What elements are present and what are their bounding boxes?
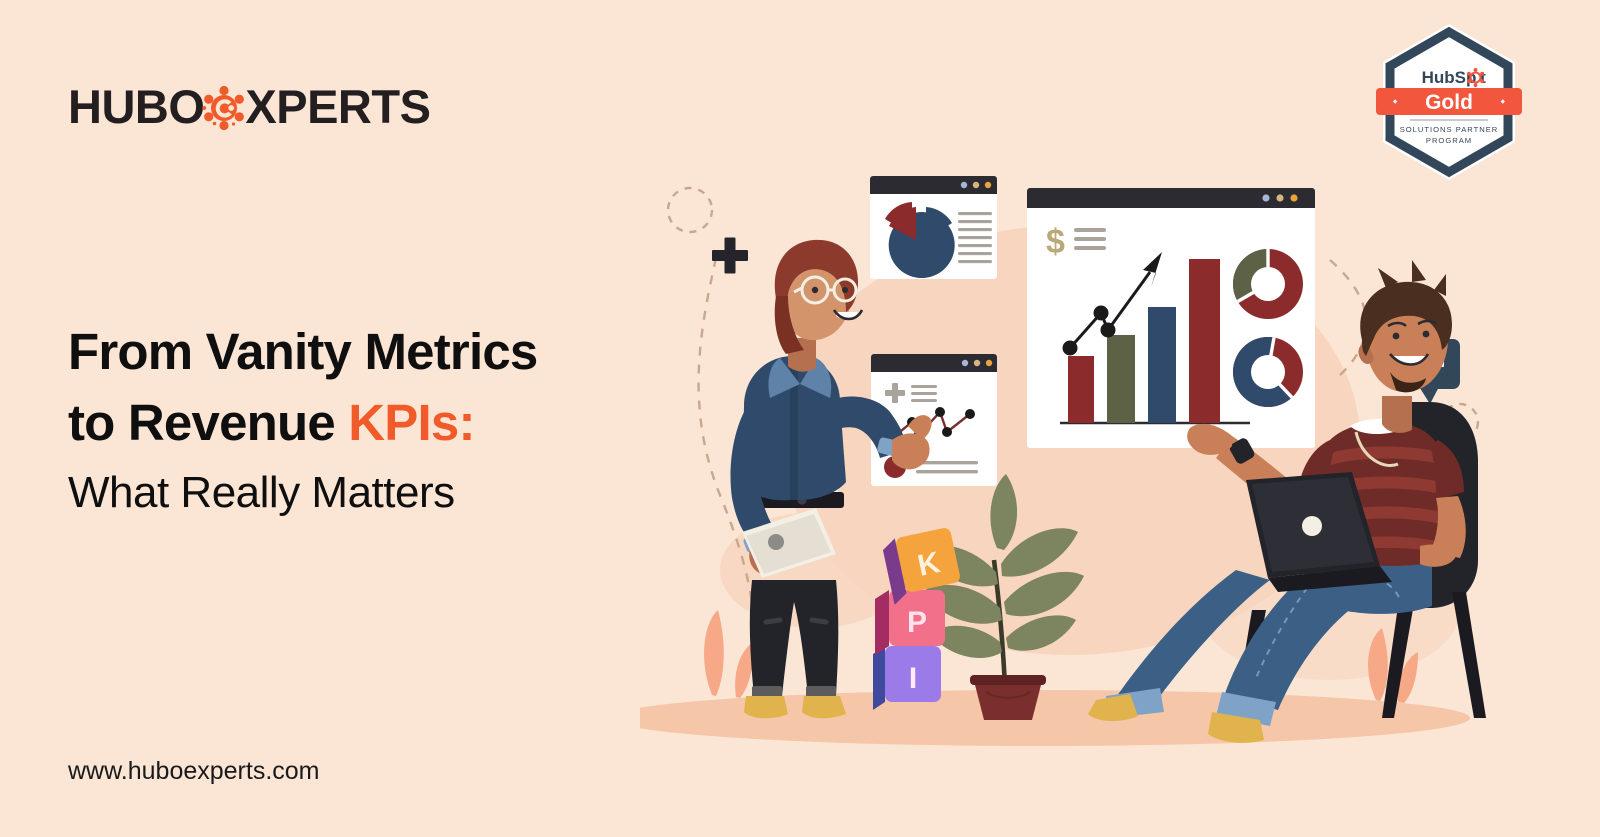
laptop-logo: [1302, 516, 1322, 536]
bar-3: [1148, 307, 1176, 423]
donut-chart-1: [1233, 249, 1303, 319]
headline-line-2-plain: to Revenue: [68, 394, 348, 451]
brand-logo[interactable]: HUBO XPERTS: [68, 78, 430, 134]
window-dot-3: [985, 182, 991, 188]
window-dot-2: [1276, 194, 1283, 201]
pants: [750, 580, 838, 696]
website-url[interactable]: www.huboexperts.com: [68, 757, 320, 786]
window-main-dashboard[interactable]: $: [1027, 188, 1315, 448]
svg-text:P: P: [907, 606, 927, 639]
eye: [812, 287, 818, 293]
dollar-icon: $: [1046, 223, 1065, 261]
bar-1: [1068, 356, 1094, 423]
gear-molecule-icon: [201, 85, 247, 131]
bar-2: [1107, 335, 1135, 423]
icon-lines: [911, 385, 937, 402]
window-pie-chart[interactable]: [870, 176, 997, 279]
kpi-block-i: I: [873, 646, 941, 710]
window-dot-1: [962, 360, 968, 366]
chair-leg-back: [1452, 592, 1486, 718]
shoe-left: [744, 696, 788, 718]
svg-text:I: I: [909, 662, 917, 695]
badge-program-line1: SOLUTIONS PARTNER: [1400, 125, 1499, 134]
window-dot-1: [1262, 194, 1269, 201]
logo-text-hubo: HUBO: [68, 83, 204, 130]
dashed-circle: [668, 188, 712, 232]
eye-left: [1393, 333, 1400, 340]
window-dot-2: [974, 360, 980, 366]
neck: [1382, 396, 1412, 433]
headline-subline: What Really Matters: [68, 462, 708, 524]
pot-rim: [970, 675, 1046, 685]
headline-line-2: to Revenue KPIs:: [68, 387, 708, 458]
leaf-decor-left: [704, 610, 754, 698]
svg-text:HubSp: HubSp: [1422, 68, 1477, 87]
logo-text-xperts: XPERTS: [245, 83, 430, 130]
headline-line-1: From Vanity Metrics: [68, 316, 708, 387]
plant-pot: [974, 681, 1042, 720]
window-dot-1: [961, 182, 967, 188]
window-dot-3: [1290, 194, 1297, 201]
shoe-right: [802, 696, 846, 718]
eye-right: [1423, 331, 1430, 338]
headline-block: From Vanity Metrics to Revenue KPIs: Wha…: [68, 316, 708, 524]
window-dot-3: [986, 360, 992, 366]
window-dot-2: [973, 182, 979, 188]
badge-tier-label: Gold: [1425, 91, 1473, 114]
bar-4: [1189, 259, 1220, 423]
icon-lines: [1074, 228, 1106, 250]
headline-accent-kpis: KPIs:: [348, 394, 474, 451]
hero-illustration: $: [640, 140, 1540, 760]
plus-decor-icon: [712, 238, 748, 274]
donut-chart-2: [1233, 337, 1303, 407]
marketing-banner: HUBO XPERTS: [0, 0, 1600, 837]
kpi-block-p: P: [875, 590, 945, 655]
